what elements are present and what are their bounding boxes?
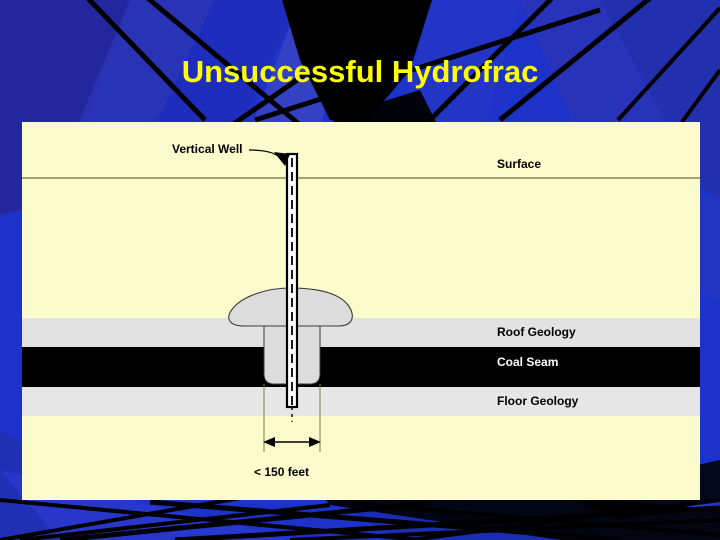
label-coal-seam: Coal Seam bbox=[497, 355, 558, 369]
slide: Unsuccessful Hydrofrac bbox=[0, 0, 720, 540]
label-distance: < 150 feet bbox=[254, 465, 309, 479]
label-floor-geology: Floor Geology bbox=[497, 394, 578, 408]
label-roof-geology: Roof Geology bbox=[497, 325, 576, 339]
layer-floor-geology bbox=[22, 387, 700, 416]
page-title: Unsuccessful Hydrofrac bbox=[0, 55, 720, 89]
label-surface: Surface bbox=[497, 157, 541, 171]
diagram-panel: Vertical Well Surface Roof Geology Coal … bbox=[22, 122, 700, 500]
layer-roof-geology bbox=[22, 318, 700, 347]
label-vertical-well: Vertical Well bbox=[172, 142, 242, 156]
layer-coal-seam bbox=[22, 347, 700, 387]
hydrofrac-cross-section-graphic bbox=[22, 122, 700, 500]
layer-overburden bbox=[22, 122, 700, 500]
